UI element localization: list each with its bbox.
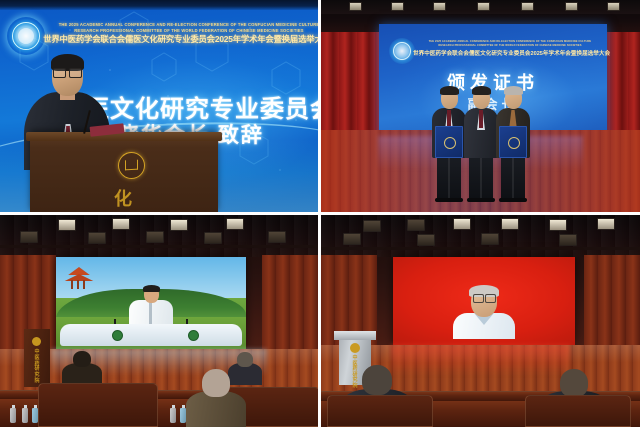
lectern-emblem-icon: [32, 337, 41, 346]
audience-area: [321, 357, 640, 427]
conference-seal-icon: [7, 17, 45, 55]
glasses-icon: [473, 294, 496, 301]
screen-english-line-2: RESEARCH PROFESSIONAL COMMITTEE OF THE W…: [421, 44, 599, 47]
certificate-folder: [499, 126, 527, 158]
lectern-emblem-icon: [350, 343, 360, 353]
screen-english-line-2: RESEARCH PROFESSIONAL COMMITTEE OF THE W…: [55, 28, 318, 33]
wooden-podium: 化: [30, 132, 218, 212]
photo-collage: THE 2025 ACADEMIC ANNUAL CONFERENCE AND …: [0, 0, 640, 427]
screen-english-line-1: THE 2025 ACADEMIC ANNUAL CONFERENCE AND …: [421, 40, 599, 43]
audience-area: [0, 357, 318, 427]
conference-seal-icon: [389, 38, 415, 64]
panel-top-left-speech: THE 2025 ACADEMIC ANNUAL CONFERENCE AND …: [0, 0, 318, 212]
video-desk: [60, 324, 242, 346]
chinese-pavilion-icon: [64, 267, 94, 289]
ceiling-light-rig: [0, 215, 318, 257]
ceiling-light-rig: [321, 0, 640, 14]
podium-emblem-icon: [118, 152, 145, 179]
remote-speaker-figure: [453, 277, 515, 339]
attendee-front-center: [186, 369, 246, 427]
led-screen-video-feed: [56, 257, 246, 350]
chair-back-left: [327, 395, 433, 427]
screen-chinese-header: 世界中医药学会联合会儒医文化研究专业委员会2025年学术年会暨换届选举大会: [413, 49, 601, 57]
screen-chinese-header: 世界中医药学会联合会儒医文化研究专业委员会2025年学术年会暨换届选举大会: [42, 33, 318, 45]
podium-character: 化: [114, 185, 132, 211]
chair-back-right: [525, 395, 631, 427]
ceiling-shadow: [0, 0, 318, 10]
panel-bottom-left-video-address: 中医药研究院: [0, 215, 318, 427]
screen-english-line-1: THE 2025 ACADEMIC ANNUAL CONFERENCE AND …: [55, 22, 318, 27]
panel-bottom-right-video-address: 中医药研究院: [321, 215, 640, 427]
ceiling-light-rig: [321, 215, 640, 257]
awardee-right: [493, 84, 533, 202]
certificate-folder: [435, 126, 463, 158]
panel-top-right-certificate: THE 2025 ACADEMIC ANNUAL CONFERENCE AND …: [321, 0, 640, 212]
stage-curtain-left: [321, 32, 387, 134]
glasses-icon: [53, 68, 82, 76]
horizontal-divider: [0, 212, 640, 215]
led-screen-video-feed: [393, 257, 575, 345]
chair-back-left: [38, 383, 158, 427]
